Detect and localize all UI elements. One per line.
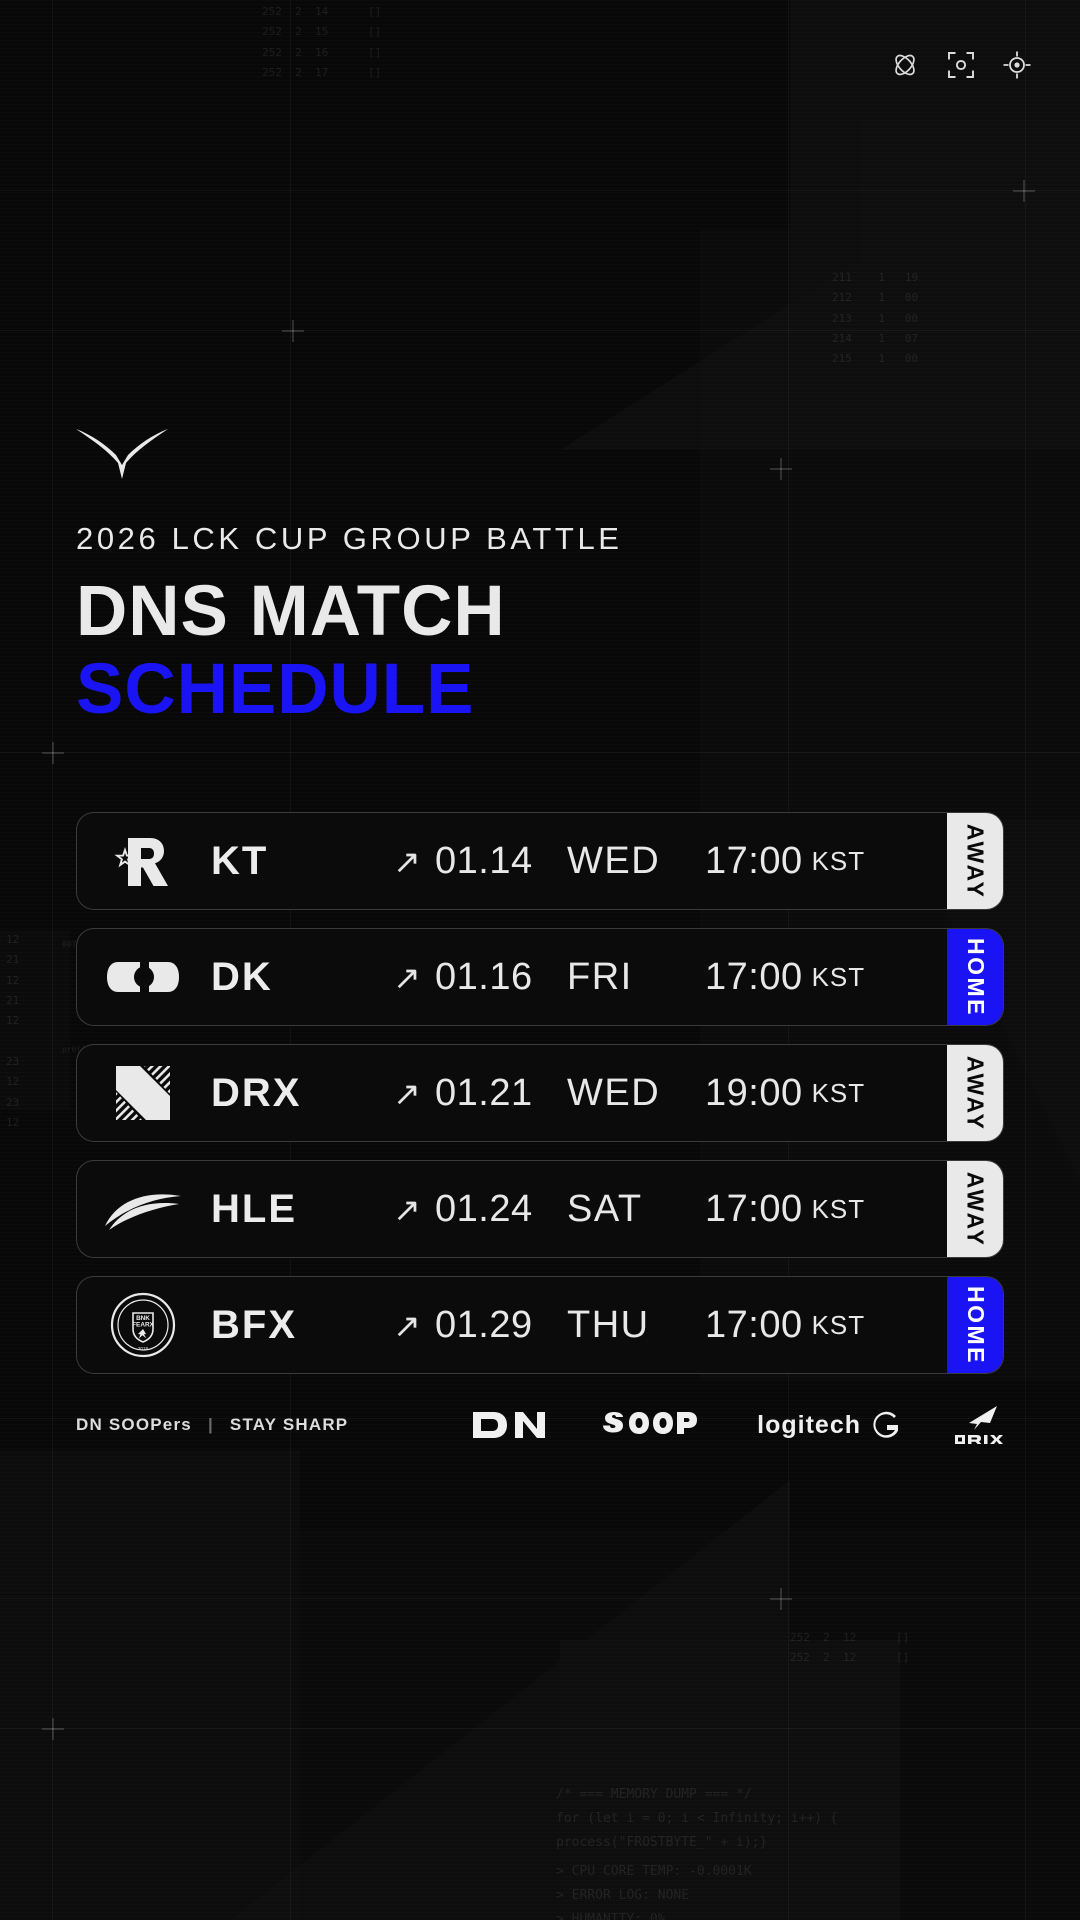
match-row[interactable]: BNKFEARX2018BFX↗01.29THU17:00KSTHOME xyxy=(76,1276,1004,1374)
svg-text:FEARX: FEARX xyxy=(132,1322,154,1329)
match-timezone: KST xyxy=(812,962,866,993)
side-badge-label: HOME xyxy=(962,1286,989,1365)
top-icon-bar xyxy=(890,50,1032,80)
bg-code-block-right: 211 1 19 212 1 00 213 1 00 214 1 07 215 … xyxy=(832,268,918,370)
match-date: 01.21 xyxy=(435,1072,567,1115)
arrow-up-right-icon: ↗ xyxy=(379,958,435,997)
side-badge-away: AWAY xyxy=(947,1161,1003,1257)
match-time: 17:00 xyxy=(705,1188,803,1231)
dn-freecs-wing-logo xyxy=(76,425,168,479)
side-badge-away: AWAY xyxy=(947,1045,1003,1141)
footer-bar: DN SOOPers | STAY SHARP logitech xyxy=(76,1395,1004,1455)
bg-crosshair-mark xyxy=(770,1588,792,1610)
team-name: KT xyxy=(211,839,379,884)
side-badge-label: HOME xyxy=(962,938,989,1017)
bg-code-block-left: 12 21 12 21 12 xyxy=(6,930,19,1032)
footer-tagline-group: DN SOOPers | STAY SHARP xyxy=(76,1415,348,1435)
match-time: 17:00 xyxy=(705,956,803,999)
team-crest-kt xyxy=(99,826,187,896)
sponsor-logo-group: logitech xyxy=(471,1405,1004,1446)
bg-panel-lower-left xyxy=(0,1450,300,1920)
footer-divider: | xyxy=(208,1415,214,1435)
focus-frame-icon[interactable] xyxy=(946,50,976,80)
bg-grid-vline xyxy=(1025,0,1026,1920)
side-badge-label: AWAY xyxy=(962,823,989,899)
dn-logo xyxy=(471,1408,545,1442)
bg-code-memory-dump: /* === MEMORY DUMP === */ for (let i = 0… xyxy=(556,1783,838,1855)
side-badge-home: HOME xyxy=(947,929,1003,1025)
match-meta: ↗01.24SAT17:00KST xyxy=(379,1188,1003,1231)
match-meta: ↗01.16FRI17:00KST xyxy=(379,956,1003,999)
footer-tagline-right: STAY SHARP xyxy=(230,1415,348,1435)
bg-crosshair-mark xyxy=(42,742,64,764)
side-badge-away: AWAY xyxy=(947,813,1003,909)
match-day-of-week: WED xyxy=(567,1072,705,1115)
bg-grid-hline xyxy=(0,190,1080,191)
bg-code-block-bottom-small: 252 2 12 [] 252 2 12 [] xyxy=(790,1628,909,1669)
soop-logo xyxy=(601,1408,701,1442)
bg-crosshair-mark xyxy=(770,458,792,480)
svg-text:2018: 2018 xyxy=(138,1346,149,1351)
team-crest-drx xyxy=(99,1062,187,1124)
match-schedule-list: KT↗01.14WED17:00KSTAWAYDK↗01.16FRI17:00K… xyxy=(76,812,1004,1392)
match-day-of-week: FRI xyxy=(567,956,705,999)
arrow-up-right-icon: ↗ xyxy=(379,842,435,881)
side-badge-label: AWAY xyxy=(962,1055,989,1131)
team-name: DK xyxy=(211,955,379,1000)
match-date: 01.14 xyxy=(435,840,567,883)
match-date: 01.24 xyxy=(435,1188,567,1231)
team-name: BFX xyxy=(211,1303,379,1348)
match-row[interactable]: KT↗01.14WED17:00KSTAWAY xyxy=(76,812,1004,910)
match-row[interactable]: DK↗01.16FRI17:00KSTHOME xyxy=(76,928,1004,1026)
bg-grid-hline xyxy=(0,752,1080,753)
bg-grid-vline xyxy=(52,0,53,1920)
match-timezone: KST xyxy=(812,1310,866,1341)
atom-orbit-icon[interactable] xyxy=(890,50,920,80)
match-time: 17:00 xyxy=(705,1304,803,1347)
match-meta: ↗01.14WED17:00KST xyxy=(379,840,1003,883)
match-meta: ↗01.29THU17:00KST xyxy=(379,1304,1003,1347)
logitech-wordmark: logitech xyxy=(757,1411,861,1440)
bg-grid-hline xyxy=(0,1598,1080,1599)
bg-crosshair-mark xyxy=(1013,180,1035,202)
arrow-up-right-icon: ↗ xyxy=(379,1306,435,1345)
bg-code-block-left-2: 23 12 23 12 xyxy=(6,1052,19,1133)
team-name: DRX xyxy=(211,1071,379,1116)
footer-tagline-left: DN SOOPers xyxy=(76,1415,192,1435)
bg-code-block-top: 252 2 14 [] 252 2 15 [] 252 2 16 [] 252 … xyxy=(262,2,381,83)
match-day-of-week: THU xyxy=(567,1304,705,1347)
team-crest-hle xyxy=(99,1186,187,1232)
bg-crosshair-mark xyxy=(282,320,304,342)
match-date: 01.16 xyxy=(435,956,567,999)
page-title-line1: DNS MATCH xyxy=(76,575,623,649)
match-date: 01.29 xyxy=(435,1304,567,1347)
match-timezone: KST xyxy=(812,846,866,877)
bg-code-status-lines: > CPU CORE TEMP: -0.0001K > ERROR LOG: N… xyxy=(556,1860,752,1920)
match-row[interactable]: DRX↗01.21WED19:00KSTAWAY xyxy=(76,1044,1004,1142)
team-crest-dk xyxy=(99,956,187,998)
match-time: 19:00 xyxy=(705,1072,803,1115)
match-row[interactable]: HLE↗01.24SAT17:00KSTAWAY xyxy=(76,1160,1004,1258)
match-timezone: KST xyxy=(812,1194,866,1225)
bg-crosshair-mark xyxy=(42,1718,64,1740)
side-badge-home: HOME xyxy=(947,1277,1003,1373)
page-title-line2: SCHEDULE xyxy=(76,653,623,727)
side-badge-label: AWAY xyxy=(962,1171,989,1247)
match-day-of-week: WED xyxy=(567,840,705,883)
team-name: HLE xyxy=(211,1187,379,1232)
header-block: 2026 LCK CUP GROUP BATTLE DNS MATCH SCHE… xyxy=(76,425,623,727)
arrow-up-right-icon: ↗ xyxy=(379,1074,435,1113)
bg-grid-hline xyxy=(0,1728,1080,1729)
team-crest-bfx: BNKFEARX2018 xyxy=(99,1292,187,1358)
match-time: 17:00 xyxy=(705,840,803,883)
logitech-g-logo: logitech xyxy=(757,1410,898,1440)
event-eyebrow-title: 2026 LCK CUP GROUP BATTLE xyxy=(76,521,623,557)
match-day-of-week: SAT xyxy=(567,1188,705,1231)
match-meta: ↗01.21WED19:00KST xyxy=(379,1072,1003,1115)
orix-logo xyxy=(954,1405,1004,1446)
crosshair-target-icon[interactable] xyxy=(1002,50,1032,80)
match-timezone: KST xyxy=(812,1078,866,1109)
arrow-up-right-icon: ↗ xyxy=(379,1190,435,1229)
